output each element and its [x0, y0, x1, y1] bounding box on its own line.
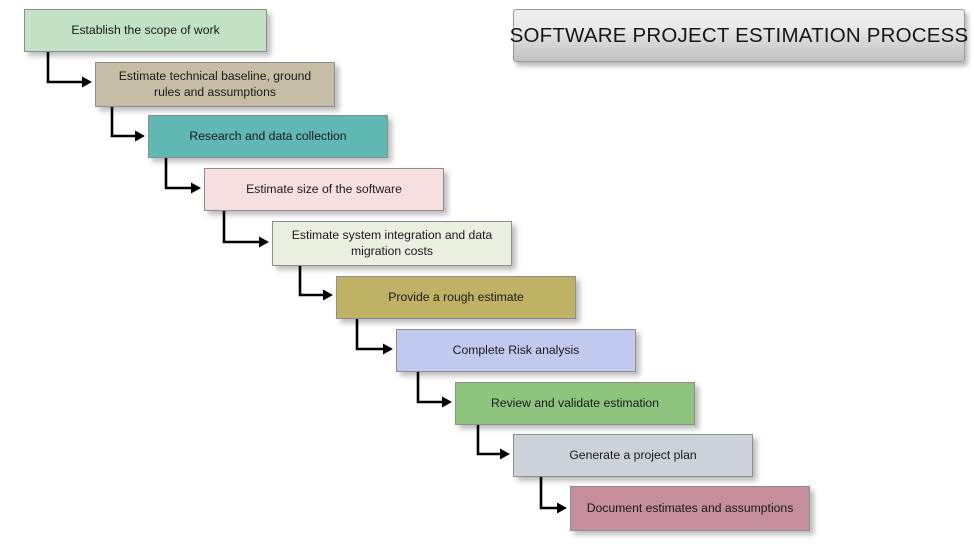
process-step-5[interactable]: Estimate system integration and data mig…	[272, 221, 512, 266]
process-step-10[interactable]: Document estimates and assumptions	[570, 486, 810, 531]
diagram-title-plaque: SOFTWARE PROJECT ESTIMATION PROCESS	[513, 9, 965, 62]
process-step-label: Provide a rough estimate	[388, 290, 524, 306]
process-step-8[interactable]: Review and validate estimation	[455, 382, 695, 425]
process-step-7[interactable]: Complete Risk analysis	[396, 329, 636, 372]
page-title: SOFTWARE PROJECT ESTIMATION PROCESS	[510, 24, 969, 48]
process-step-4[interactable]: Estimate size of the software	[204, 168, 444, 211]
process-step-label: Complete Risk analysis	[453, 343, 580, 359]
process-step-label: Research and data collection	[189, 129, 346, 145]
process-step-1[interactable]: Establish the scope of work	[24, 9, 267, 52]
process-step-2[interactable]: Estimate technical baseline, ground rule…	[95, 62, 335, 107]
process-step-3[interactable]: Research and data collection	[148, 115, 388, 158]
diagram-canvas: SOFTWARE PROJECT ESTIMATION PROCESS Esta…	[0, 0, 974, 547]
process-step-9[interactable]: Generate a project plan	[513, 434, 753, 477]
process-step-label: Estimate system integration and data mig…	[281, 228, 503, 259]
process-step-label: Estimate technical baseline, ground rule…	[104, 69, 326, 100]
process-step-label: Review and validate estimation	[491, 396, 659, 412]
process-step-label: Estimate size of the software	[246, 182, 402, 198]
process-step-label: Document estimates and assumptions	[587, 501, 794, 517]
process-step-6[interactable]: Provide a rough estimate	[336, 276, 576, 319]
process-step-label: Generate a project plan	[569, 448, 696, 464]
process-step-label: Establish the scope of work	[71, 23, 219, 39]
